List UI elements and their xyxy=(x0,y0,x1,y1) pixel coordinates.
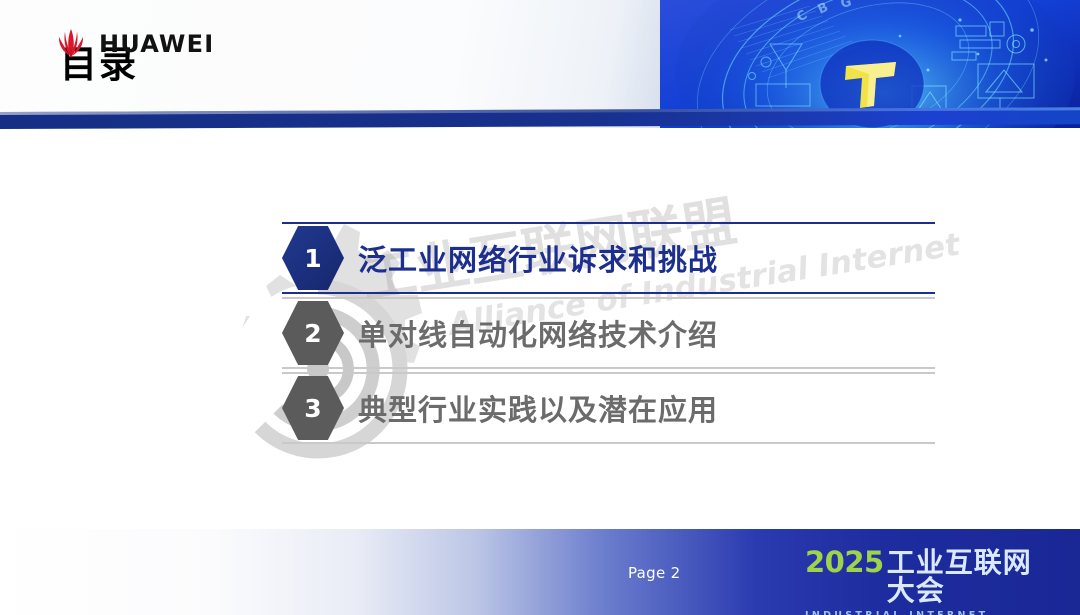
toc-number-2: 2 xyxy=(282,301,344,365)
conference-name-cn: 工业互联网大会 xyxy=(887,549,1055,605)
page-number: Page 2 xyxy=(628,564,680,582)
slide-contents-page: C B G 目录 xyxy=(0,0,1080,615)
toc-number-1: 1 xyxy=(282,226,344,290)
toc-item-2[interactable]: 2 单对线自动化网络技术介绍 xyxy=(282,297,935,369)
huawei-logo: HUAWEI xyxy=(52,26,222,62)
conference-logo: 2025 工业互联网大会 INDUSTRIAL INTERNET CONFERE… xyxy=(805,548,1055,598)
table-of-contents: 1 泛工业网络行业诉求和挑战 2 单对线自动化网络技术介绍 3 典型行业实践以及… xyxy=(0,129,1080,529)
conference-name-en: INDUSTRIAL INTERNET CONFERENCE xyxy=(805,610,1055,615)
toc-label-3: 典型行业实践以及潜在应用 xyxy=(358,372,718,444)
huawei-flower-icon xyxy=(52,28,90,60)
toc-label-1: 泛工业网络行业诉求和挑战 xyxy=(358,222,718,294)
toc-item-3[interactable]: 3 典型行业实践以及潜在应用 xyxy=(282,372,935,444)
toc-number-3: 3 xyxy=(282,376,344,440)
conference-logo-row: 2025 工业互联网大会 xyxy=(805,548,1055,605)
toc-number-badge: 1 xyxy=(282,226,344,290)
toc-item-1[interactable]: 1 泛工业网络行业诉求和挑战 xyxy=(282,222,935,294)
conference-year: 2025 xyxy=(805,548,884,577)
toc-number-badge: 2 xyxy=(282,301,344,365)
toc-label-2: 单对线自动化网络技术介绍 xyxy=(358,297,718,369)
toc-number-badge: 3 xyxy=(282,376,344,440)
huawei-wordmark: HUAWEI xyxy=(99,32,214,56)
